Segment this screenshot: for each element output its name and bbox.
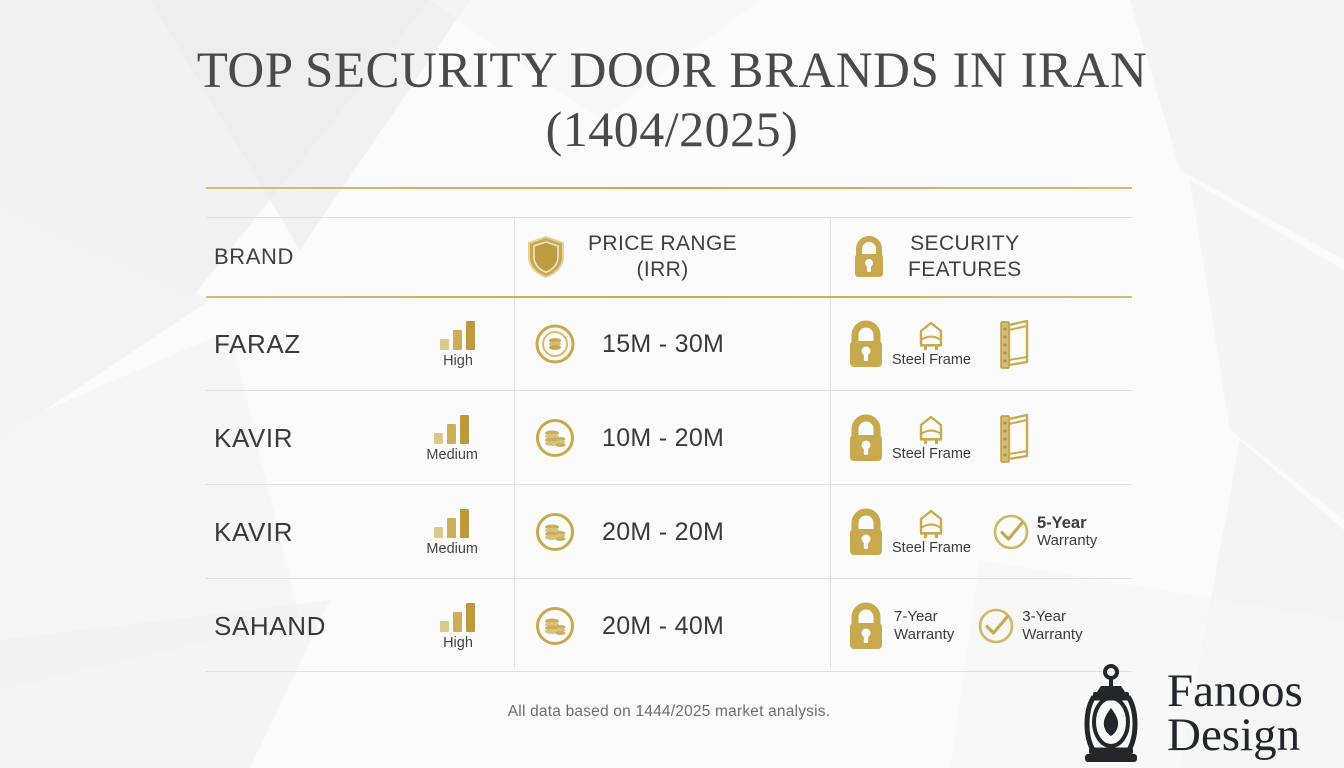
- rating-label: High: [443, 353, 473, 369]
- table-row[interactable]: KAVIR Medium: [206, 485, 1132, 579]
- cell-security-features: Steel Frame: [830, 391, 1132, 485]
- bar-chart-icon: [438, 601, 478, 633]
- table-row[interactable]: KAVIR Medium: [206, 391, 1132, 485]
- cell-price: 15M - 30M: [514, 297, 830, 391]
- feature-warranty: 3-Year Warranty: [976, 606, 1082, 646]
- check-circle-icon: [976, 606, 1016, 646]
- brand-name: KAVIR: [214, 423, 426, 454]
- brand-rating: High: [438, 319, 478, 369]
- header-cell-brand: BRAND: [206, 217, 514, 297]
- bar-chart-icon: [438, 319, 478, 351]
- table-row[interactable]: SAHAND High: [206, 579, 1132, 673]
- feature-warranty: 5-Year Warranty: [991, 512, 1097, 552]
- feature-lock: [844, 412, 888, 464]
- footnote: All data based on 1444/2025 market analy…: [206, 703, 1132, 721]
- rating-label: High: [443, 635, 473, 651]
- header-label-price: PRICE RANGE: [588, 231, 737, 257]
- lock-icon: [844, 600, 888, 652]
- title-line-2: (1404/2025): [0, 100, 1344, 158]
- infographic-page: TOP SECURITY DOOR BRANDS IN IRAN (1404/2…: [0, 0, 1344, 768]
- frame-icon: [914, 508, 948, 540]
- warranty-label: Warranty: [1037, 532, 1097, 550]
- lock-icon: [850, 235, 888, 279]
- check-circle-icon: [991, 512, 1031, 552]
- header-cell-security-text: SECURITY FEATURES: [908, 231, 1022, 283]
- title-divider-rule: [206, 187, 1132, 189]
- cell-brand: SAHAND High: [206, 579, 514, 673]
- title-line-1: TOP SECURITY DOOR BRANDS IN IRAN: [0, 42, 1344, 100]
- cell-price: 10M - 20M: [514, 391, 830, 485]
- feature-label: Steel Frame: [892, 540, 971, 557]
- coin-icon: [534, 417, 576, 459]
- header-label-security: SECURITY: [908, 231, 1022, 257]
- coin-icon: [534, 323, 576, 365]
- lock-icon: [844, 412, 888, 464]
- cell-brand: KAVIR Medium: [206, 485, 514, 579]
- frame-icon: [914, 414, 948, 446]
- price-value: 10M - 20M: [602, 424, 724, 453]
- frame-icon: [914, 320, 948, 352]
- warranty-duration: 5-Year: [1037, 514, 1097, 532]
- cell-security-features: Steel Frame: [830, 297, 1132, 391]
- brands-table: BRAND PRICE RANGE (IRR): [206, 217, 1132, 673]
- header-cell-security: SECURITY FEATURES: [830, 217, 1132, 297]
- cell-security-features: 7-Year Warranty 3-Year Warranty: [830, 579, 1132, 673]
- logo-line-2: Design: [1167, 714, 1303, 758]
- cell-brand: KAVIR Medium: [206, 391, 514, 485]
- feature-lock: [844, 318, 888, 370]
- warranty-text: 5-Year Warranty: [1037, 514, 1097, 550]
- coin-icon: [534, 511, 576, 553]
- door-frame-icon: [997, 412, 1033, 464]
- feature-lock: [844, 506, 888, 558]
- header-label-security-2: FEATURES: [908, 257, 1022, 283]
- rating-label: Medium: [426, 447, 478, 463]
- cell-security-features: Steel Frame 5-Year Warranty: [830, 485, 1132, 579]
- feature-label: Steel Frame: [892, 446, 971, 463]
- lock-icon: [844, 506, 888, 558]
- brand-rating: Medium: [426, 507, 478, 557]
- price-value: 20M - 20M: [602, 518, 724, 547]
- bar-chart-icon: [432, 413, 472, 445]
- brand-name: FARAZ: [214, 329, 438, 360]
- shield-icon: [526, 235, 566, 279]
- bar-chart-icon: [432, 507, 472, 539]
- warranty-text: 7-Year Warranty: [894, 608, 954, 644]
- table-header-row: BRAND PRICE RANGE (IRR): [206, 217, 1132, 297]
- price-value: 15M - 30M: [602, 330, 724, 359]
- warranty-label: Warranty: [894, 626, 954, 644]
- warranty-duration: 3-Year: [1022, 608, 1082, 626]
- brand-name: SAHAND: [214, 611, 438, 642]
- feature-steel-frame: Steel Frame: [892, 414, 971, 463]
- header-cell-price: PRICE RANGE (IRR): [514, 217, 830, 297]
- feature-steel-frame: Steel Frame: [892, 508, 971, 557]
- door-frame-icon: [997, 318, 1033, 370]
- page-title: TOP SECURITY DOOR BRANDS IN IRAN (1404/2…: [0, 42, 1344, 158]
- feature-door-frame: [997, 318, 1033, 370]
- brand-name: KAVIR: [214, 517, 426, 548]
- brand-rating: Medium: [426, 413, 478, 463]
- header-label-price-unit: (IRR): [588, 257, 737, 283]
- rating-label: Medium: [426, 541, 478, 557]
- logo-line-1: Fanoos: [1167, 670, 1303, 714]
- table-row[interactable]: FARAZ High: [206, 297, 1132, 391]
- logo-wordmark: Fanoos Design: [1167, 670, 1303, 757]
- warranty-text: 3-Year Warranty: [1022, 608, 1082, 644]
- brand-rating: High: [438, 601, 478, 651]
- cell-price: 20M - 40M: [514, 579, 830, 673]
- price-value: 20M - 40M: [602, 612, 724, 641]
- brand-logo: Fanoos Design: [1063, 664, 1303, 764]
- feature-lock-warranty: 7-Year Warranty: [844, 600, 954, 652]
- coin-icon: [534, 605, 576, 647]
- feature-door-frame: [997, 412, 1033, 464]
- cell-price: 20M - 20M: [514, 485, 830, 579]
- header-label-brand: BRAND: [214, 244, 294, 270]
- lantern-icon: [1063, 664, 1159, 764]
- warranty-duration: 7-Year: [894, 608, 954, 626]
- warranty-label: Warranty: [1022, 626, 1082, 644]
- feature-steel-frame: Steel Frame: [892, 320, 971, 369]
- header-cell-price-text: PRICE RANGE (IRR): [588, 231, 737, 283]
- feature-label: Steel Frame: [892, 352, 971, 369]
- lock-icon: [844, 318, 888, 370]
- cell-brand: FARAZ High: [206, 297, 514, 391]
